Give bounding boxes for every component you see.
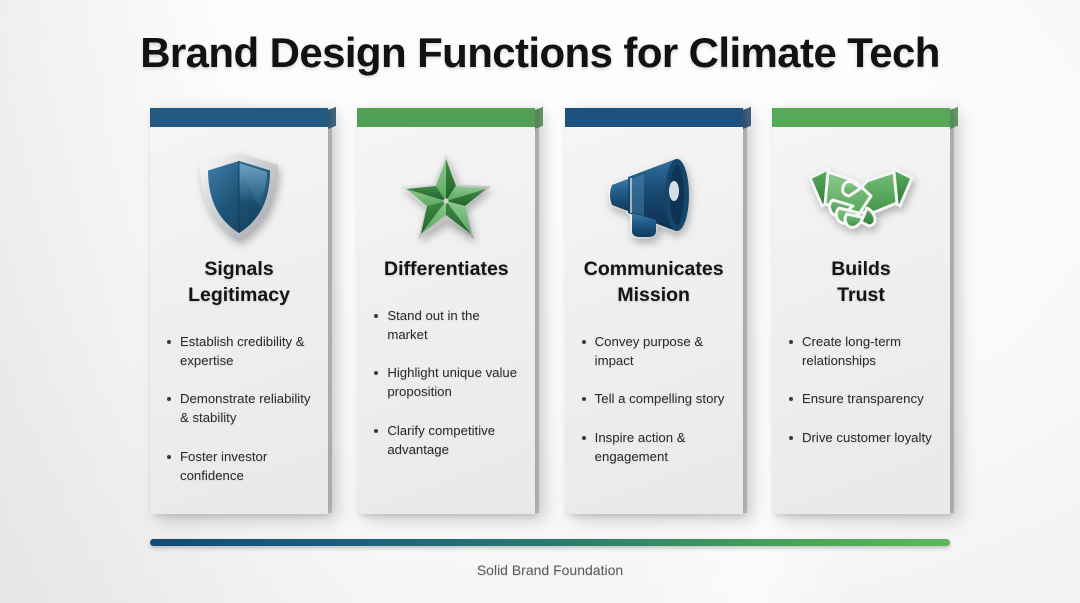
card-bullet-list: Establish credibility & expertise Demons… [150, 333, 328, 505]
card-accent-bar [357, 108, 535, 127]
list-item: Inspire action & engagement [581, 429, 731, 466]
list-item: Ensure transparency [788, 390, 938, 409]
card-bullet-list: Create long-term relationships Ensure tr… [772, 333, 950, 468]
card-heading-line2: Mission [584, 283, 724, 309]
card-heading: Communicates Mission [578, 257, 730, 309]
list-item: Demonstrate reliability & stability [166, 390, 316, 427]
card-accent-bar [772, 108, 950, 127]
cards-container: Signals Legitimacy Establish credibility… [150, 108, 950, 516]
star-icon [357, 141, 535, 253]
list-item: Drive customer loyalty [788, 429, 938, 448]
card-heading: Signals Legitimacy [182, 257, 296, 309]
list-item: Clarify competitive advantage [373, 422, 523, 459]
card-heading-line2: Trust [831, 283, 891, 309]
card-bullet-list: Stand out in the market Highlight unique… [357, 307, 535, 479]
card-bullet-list: Convey purpose & impact Tell a compellin… [565, 333, 743, 487]
page-title: Brand Design Functions for Climate Tech [0, 29, 1080, 77]
list-item: Foster investor confidence [166, 448, 316, 485]
card-heading-line1: Differentiates [384, 257, 509, 283]
card-differentiates[interactable]: Differentiates Stand out in the market H… [357, 108, 535, 514]
handshake-icon [772, 141, 950, 253]
list-item: Tell a compelling story [581, 390, 731, 409]
list-item: Establish credibility & expertise [166, 333, 316, 370]
card-heading: Builds Trust [825, 257, 897, 309]
foundation-section: Solid Brand Foundation [150, 539, 950, 578]
card-signals-legitimacy[interactable]: Signals Legitimacy Establish credibility… [150, 108, 328, 514]
foundation-label: Solid Brand Foundation [150, 562, 950, 578]
list-item: Convey purpose & impact [581, 333, 731, 370]
foundation-gradient-bar [150, 539, 950, 546]
card-communicates-mission[interactable]: Communicates Mission Convey purpose & im… [565, 108, 743, 514]
card-heading-line1: Signals [188, 257, 290, 283]
list-item: Create long-term relationships [788, 333, 938, 370]
card-heading-line1: Communicates [584, 257, 724, 283]
megaphone-icon [565, 141, 743, 253]
card-accent-bar [150, 108, 328, 127]
list-item: Stand out in the market [373, 307, 523, 344]
card-heading: Differentiates [378, 257, 515, 283]
shield-icon [150, 141, 328, 253]
card-heading-line2: Legitimacy [188, 283, 290, 309]
infographic-canvas: Brand Design Functions for Climate Tech [0, 0, 1080, 603]
card-builds-trust[interactable]: Builds Trust Create long-term relationsh… [772, 108, 950, 514]
card-accent-bar [565, 108, 743, 127]
list-item: Highlight unique value proposition [373, 364, 523, 401]
card-heading-line1: Builds [831, 257, 891, 283]
